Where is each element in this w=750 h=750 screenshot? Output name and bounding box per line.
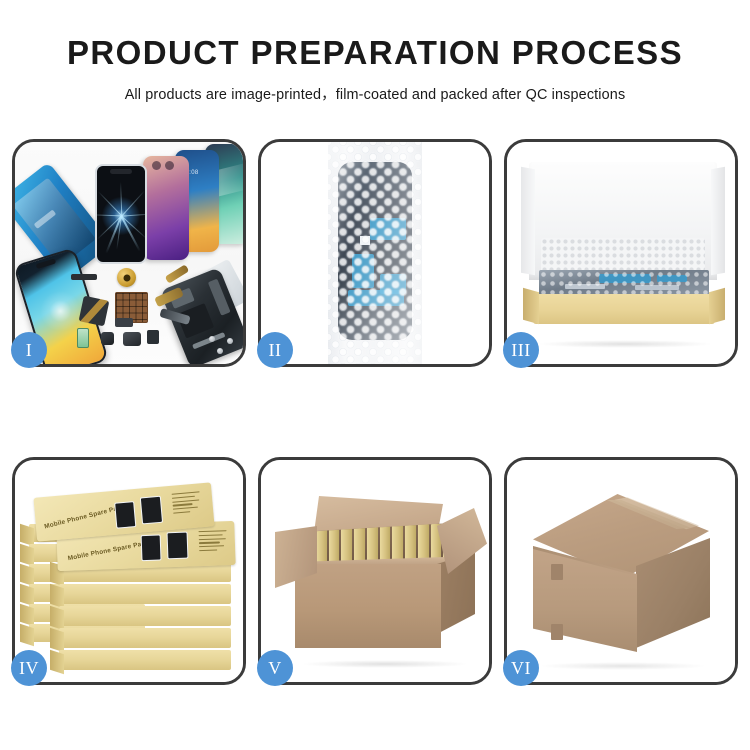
step-2-image bbox=[261, 142, 489, 364]
retail-box-screen-art-1 bbox=[141, 534, 162, 561]
retail-box-screen-art-4 bbox=[140, 496, 163, 525]
part-screw-1 bbox=[217, 348, 223, 354]
stacked-box-front-3 bbox=[59, 606, 231, 626]
step-5-image bbox=[261, 460, 489, 682]
part-antenna-bar bbox=[71, 274, 97, 280]
step-badge-6: VI bbox=[503, 650, 539, 686]
process-steps-grid: 10:08 bbox=[12, 139, 738, 685]
step-6-image bbox=[507, 460, 735, 682]
step-badge-4: IV bbox=[11, 650, 47, 686]
part-vibrator-module bbox=[115, 318, 133, 327]
carton-notch-top bbox=[551, 564, 563, 580]
stacked-box-front-4 bbox=[59, 584, 231, 604]
notch bbox=[110, 169, 132, 174]
part-taptic-engine bbox=[117, 268, 136, 287]
carton-shadow bbox=[301, 660, 469, 668]
page-title: PRODUCT PREPARATION PROCESS bbox=[0, 34, 750, 72]
sealed-carton-shadow bbox=[539, 662, 707, 670]
step-card-3: III bbox=[504, 139, 738, 367]
bubble-wrap-texture bbox=[539, 270, 709, 296]
retail-box-spec-lines-front bbox=[199, 530, 230, 554]
part-screw-2 bbox=[227, 338, 233, 344]
screen-glass-black bbox=[95, 164, 147, 264]
step-3-image bbox=[507, 142, 735, 364]
stacked-box-front-1 bbox=[59, 650, 231, 670]
box-stack: Mobile Phone Spare Parts Mobile Phone Sp… bbox=[23, 476, 241, 672]
step-badge-2: II bbox=[257, 332, 293, 368]
page-subtitle: All products are image-printed，film-coat… bbox=[0, 83, 750, 104]
step-card-1: 10:08 bbox=[12, 139, 246, 367]
part-flex-cable-left bbox=[79, 296, 110, 327]
part-battery bbox=[77, 328, 89, 348]
product-preparation-infographic: PRODUCT PREPARATION PROCESS All products… bbox=[0, 0, 750, 750]
phone-purple-gradient bbox=[143, 156, 189, 260]
carton-front-panel bbox=[295, 564, 441, 648]
step-badge-3: III bbox=[503, 332, 539, 368]
step-badge-1: I bbox=[11, 332, 47, 368]
carton-notch-bottom bbox=[551, 624, 563, 640]
header: PRODUCT PREPARATION PROCESS All products… bbox=[0, 34, 750, 104]
retail-box-brand-label-front: Mobile Phone Spare Parts bbox=[67, 539, 150, 562]
box-shadow bbox=[537, 340, 713, 348]
step-card-6: VI bbox=[504, 457, 738, 685]
step-card-4: Mobile Phone Spare Parts Mobile Phone Sp… bbox=[12, 457, 246, 685]
step-card-2: II bbox=[258, 139, 492, 367]
retail-box-screen-art-3 bbox=[114, 501, 136, 529]
retail-box-screen-art-2 bbox=[167, 532, 189, 560]
inner-box-kraft-front bbox=[533, 294, 715, 324]
step-4-image: Mobile Phone Spare Parts Mobile Phone Sp… bbox=[15, 460, 243, 682]
part-earpiece bbox=[101, 332, 114, 345]
film-sheen bbox=[328, 142, 422, 364]
retail-box-spec-lines-top bbox=[172, 491, 204, 516]
step-card-5: V bbox=[258, 457, 492, 685]
part-screw-3 bbox=[209, 336, 215, 342]
part-camera-module bbox=[147, 330, 159, 344]
wrapped-item-in-box bbox=[539, 270, 709, 296]
step-badge-5: V bbox=[257, 650, 293, 686]
stacked-box-front-2 bbox=[59, 628, 231, 648]
foam-lining bbox=[541, 238, 705, 272]
step-1-image: 10:08 bbox=[15, 142, 243, 364]
part-speaker bbox=[123, 332, 141, 346]
